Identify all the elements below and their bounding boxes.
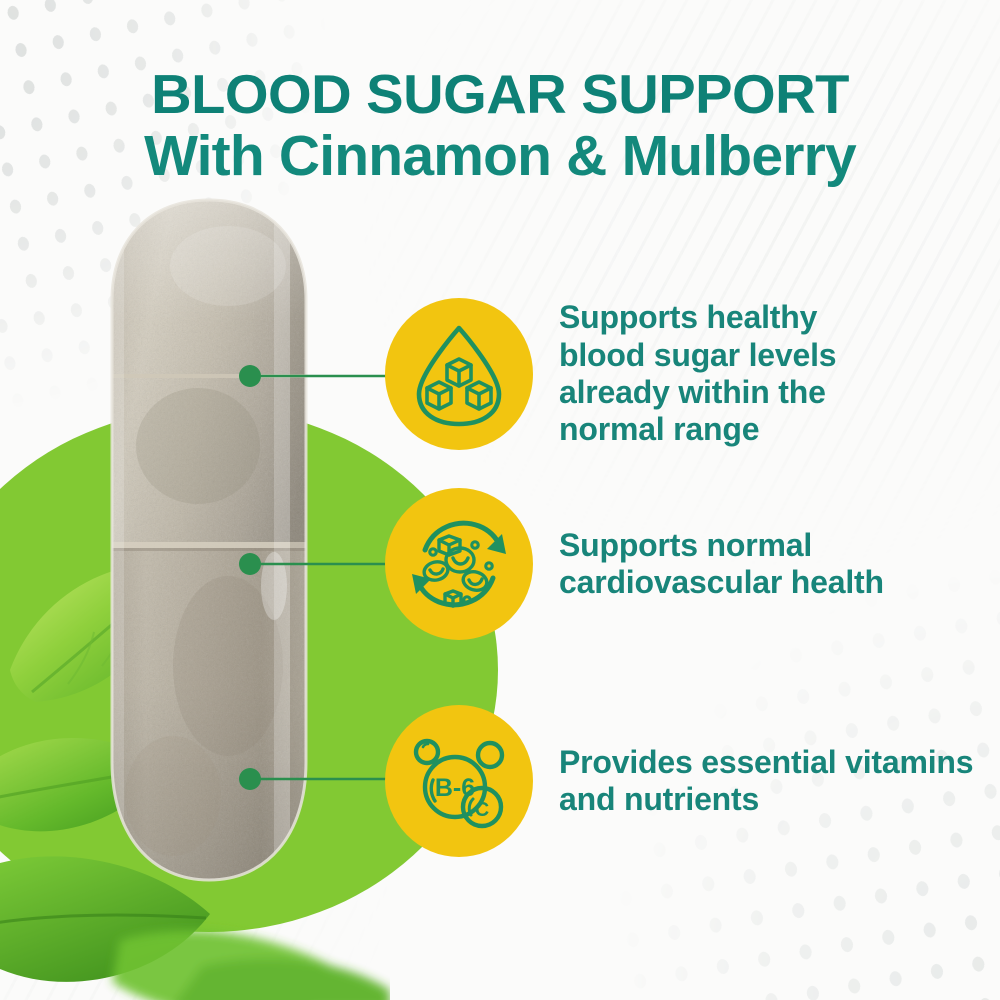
headline-primary: BLOOD SUGAR SUPPORT xyxy=(0,66,1000,122)
vitamin-label-c: C xyxy=(475,799,489,821)
benefit-icon-badge-3: B-6 C xyxy=(385,705,533,857)
blood-circulation-icon xyxy=(403,508,515,620)
supplement-capsule-photo xyxy=(78,196,340,896)
headline-secondary: With Cinnamon & Mulberry xyxy=(0,126,1000,188)
benefit-row-vitamins: B-6 C Provides essential vitamins and nu… xyxy=(385,705,979,857)
infographic-canvas: Supports healthy blood sugar levels alre… xyxy=(0,0,1000,1000)
benefit-row-cardiovascular: Supports normal cardiovascular health xyxy=(385,488,979,640)
benefit-text-3: Provides essential vitamins and nutrient… xyxy=(559,744,979,819)
benefit-icon-badge-2 xyxy=(385,488,533,640)
benefit-text-2: Supports normal cardiovascular health xyxy=(559,527,979,602)
vitamin-label-b6: B-6 xyxy=(435,774,475,802)
benefit-row-blood-sugar: Supports healthy blood sugar levels alre… xyxy=(385,298,909,450)
benefit-icon-badge-1 xyxy=(385,298,533,450)
headline-block: BLOOD SUGAR SUPPORT With Cinnamon & Mulb… xyxy=(0,66,1000,188)
droplet-sugar-cubes-icon xyxy=(403,318,515,430)
benefit-text-1: Supports healthy blood sugar levels alre… xyxy=(559,299,909,449)
vitamin-bubbles-icon: B-6 C xyxy=(403,725,515,837)
